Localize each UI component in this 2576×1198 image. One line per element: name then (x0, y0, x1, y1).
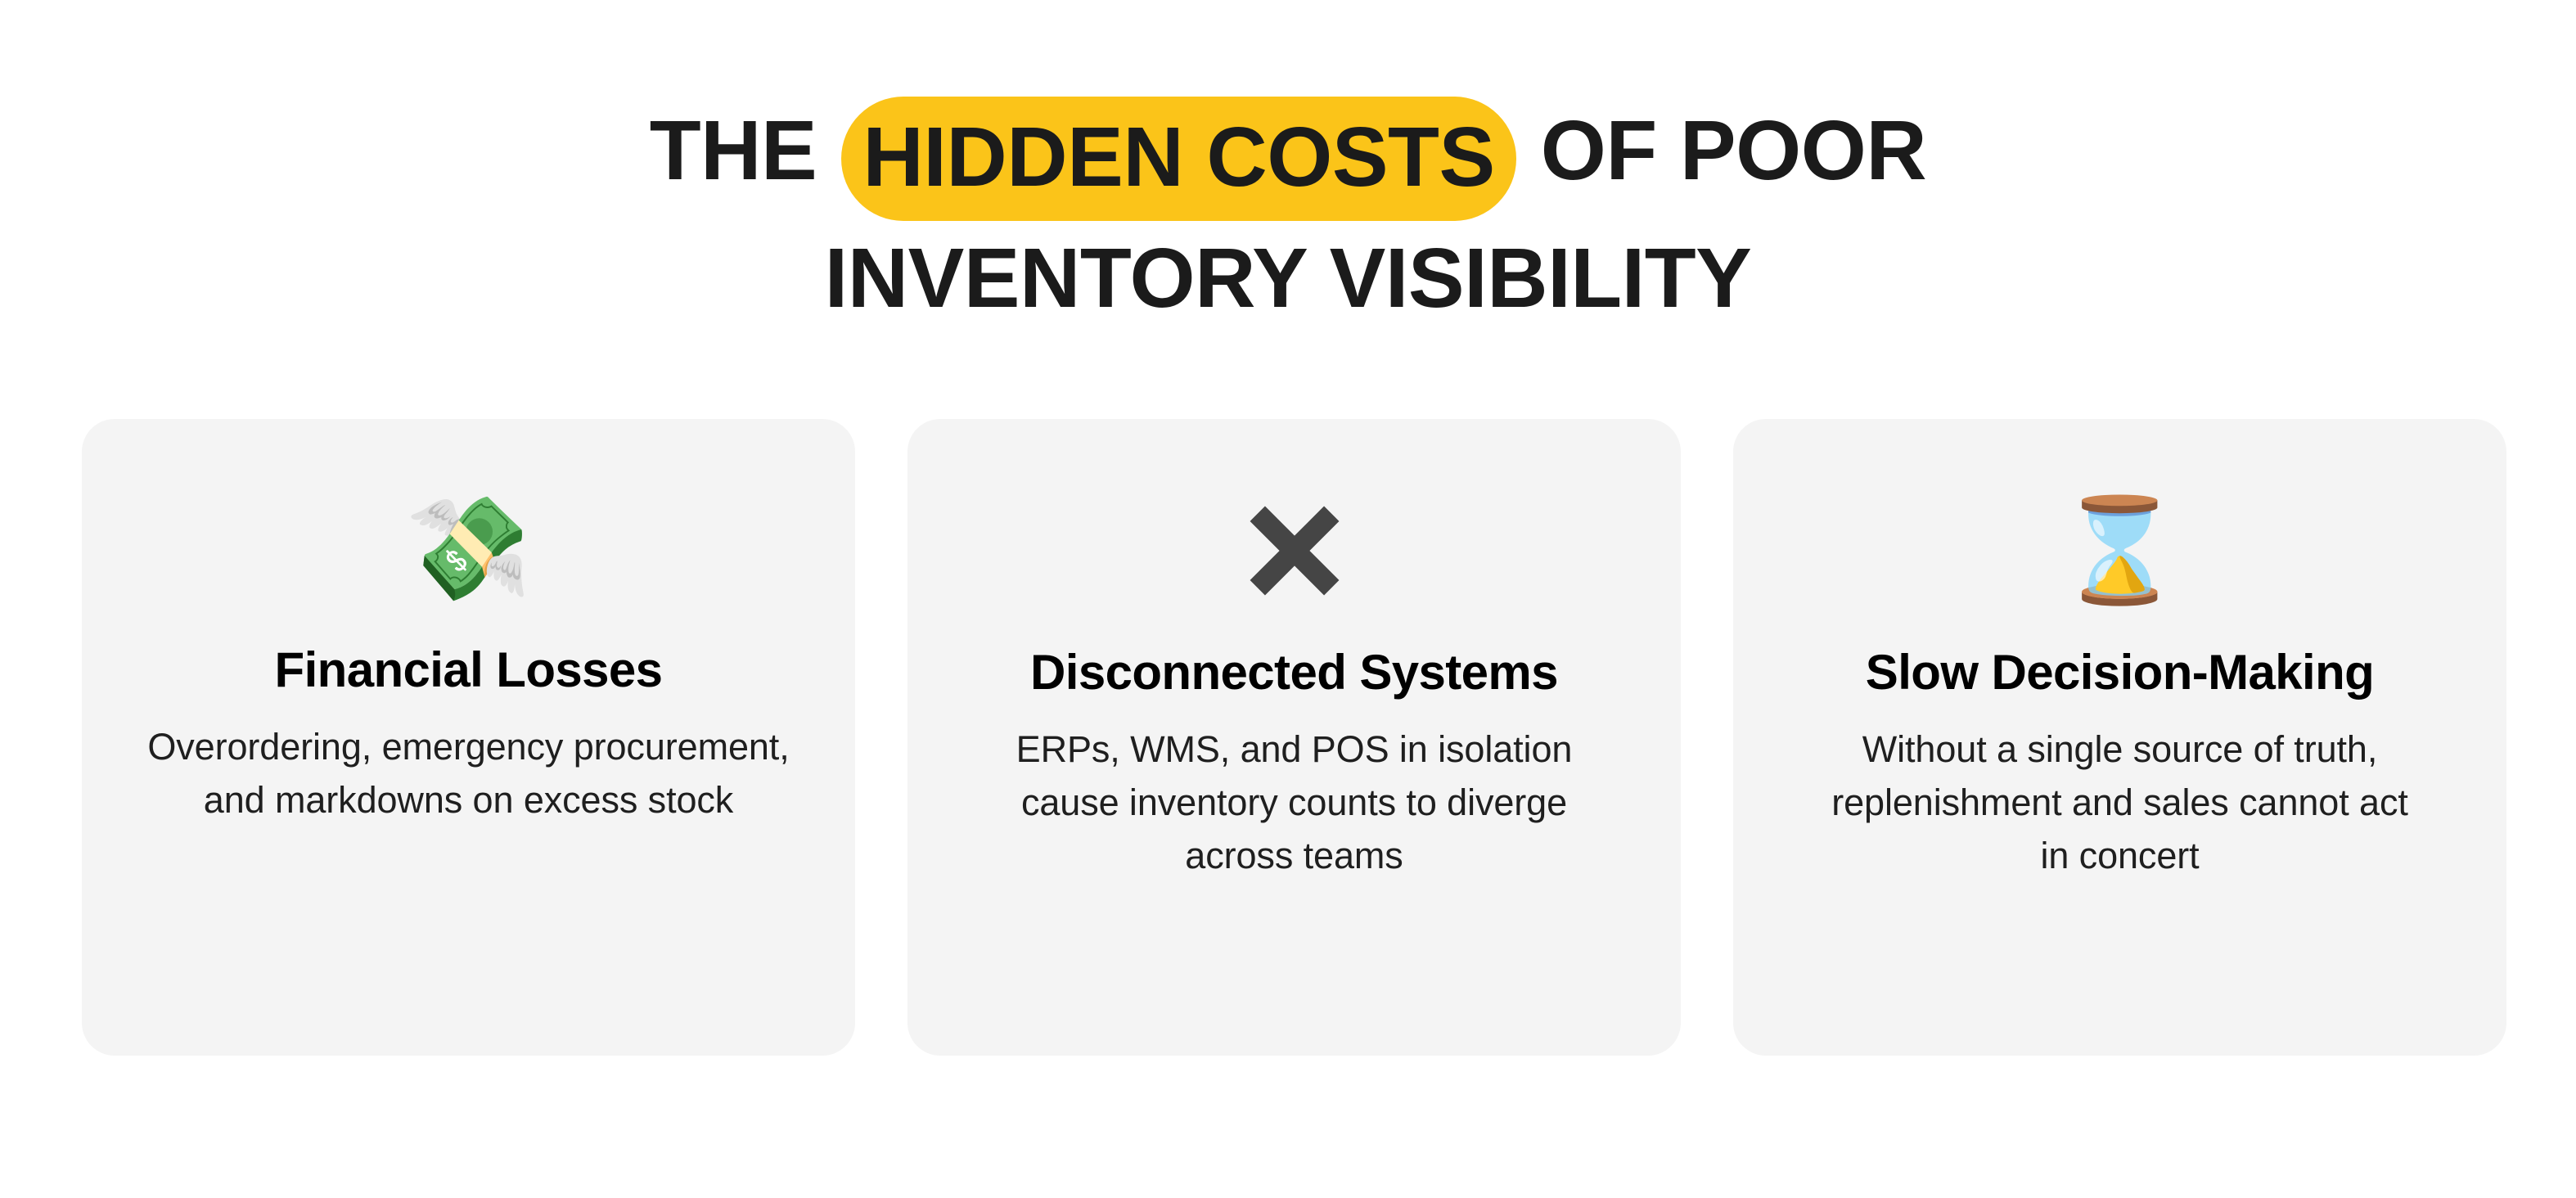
card-icon-wrapper (1252, 463, 1337, 637)
money-with-wings-emoji: 💸 (405, 498, 531, 600)
page-title: THE HIDDEN COSTS OF POOR INVENTORY VISIB… (0, 87, 2576, 342)
cards-row: 💸 Financial Losses Overordering, emergen… (82, 419, 2506, 1056)
card-financial-losses: 💸 Financial Losses Overordering, emergen… (82, 419, 855, 1056)
title-line-2: INVENTORY VISIBILITY (0, 214, 2576, 342)
title-line-1: THE HIDDEN COSTS OF POOR (0, 87, 2576, 214)
card-body-text: Overordering, emergency procurement, and… (146, 720, 792, 826)
card-title: Slow Decision-Making (1866, 642, 2374, 703)
infographic-page: THE HIDDEN COSTS OF POOR INVENTORY VISIB… (0, 0, 2576, 1198)
hourglass-emoji: ⌛ (2056, 500, 2182, 601)
card-title: Financial Losses (275, 640, 663, 700)
card-title: Disconnected Systems (1030, 642, 1558, 703)
title-post-text: OF POOR (1518, 103, 1927, 197)
card-disconnected-systems: Disconnected Systems ERPs, WMS, and POS … (907, 419, 1681, 1056)
card-slow-decision-making: ⌛ Slow Decision-Making Without a single … (1733, 419, 2506, 1056)
card-body-text: Without a single source of truth, replen… (1817, 723, 2423, 882)
card-icon-wrapper: 💸 (405, 463, 531, 635)
card-icon-wrapper: ⌛ (2056, 463, 2182, 637)
title-highlight: HIDDEN COSTS (841, 97, 1515, 221)
card-body-text: ERPs, WMS, and POS in isolation cause in… (1012, 723, 1577, 882)
title-pre-text: THE (650, 103, 840, 197)
heavy-multiplication-x-icon (1252, 508, 1337, 593)
